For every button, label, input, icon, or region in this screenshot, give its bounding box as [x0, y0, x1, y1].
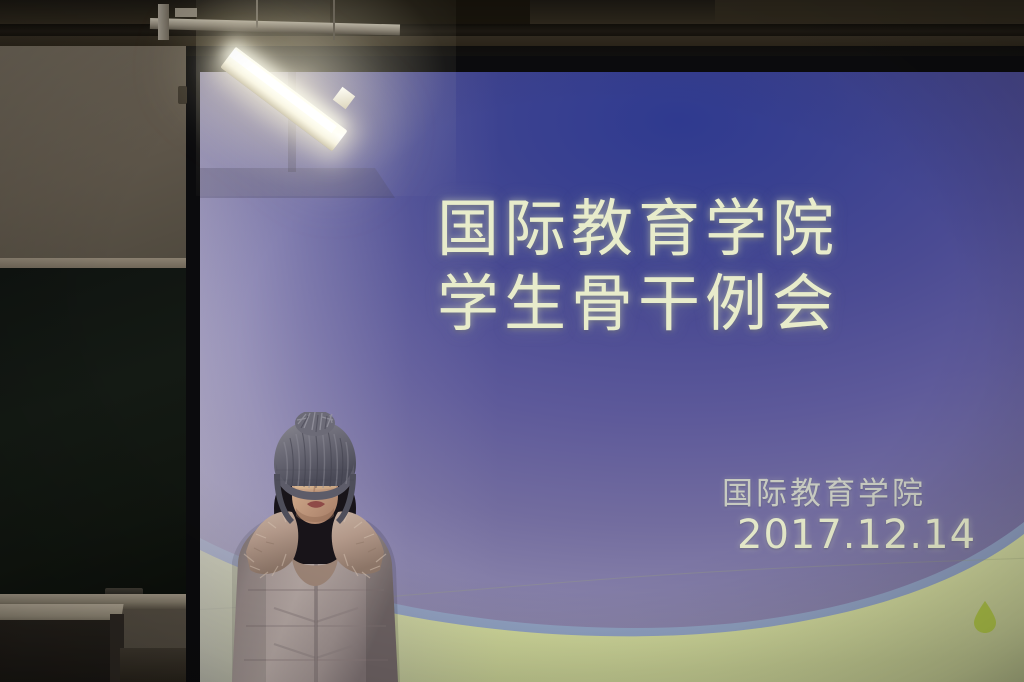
wall-left-upper [0, 40, 205, 270]
ceiling-panel-right [715, 0, 1024, 22]
slide-title-line-2: 学生骨干例会 [408, 269, 868, 338]
person-speaker [196, 412, 436, 682]
slide-title: 国际教育学院 学生骨干例会 [408, 194, 868, 339]
slide-title-line-1: 国际教育学院 [408, 194, 868, 263]
light-bracket-arm [175, 8, 197, 17]
green-droplet-logo [972, 600, 998, 634]
podium-body [0, 620, 116, 682]
screenshot-root: 国际教育学院 学生骨干例会 国际教育学院 2017.12.14 [0, 0, 1024, 682]
blackboard [0, 268, 193, 598]
light-bracket [158, 4, 169, 40]
slide-organization: 国际教育学院 [722, 468, 926, 513]
slide-date: 2017.12.14 [737, 512, 976, 558]
wall-stud [178, 86, 187, 104]
ceiling-panel-left [330, 0, 530, 26]
fluorescent-tube-light [228, 8, 356, 104]
